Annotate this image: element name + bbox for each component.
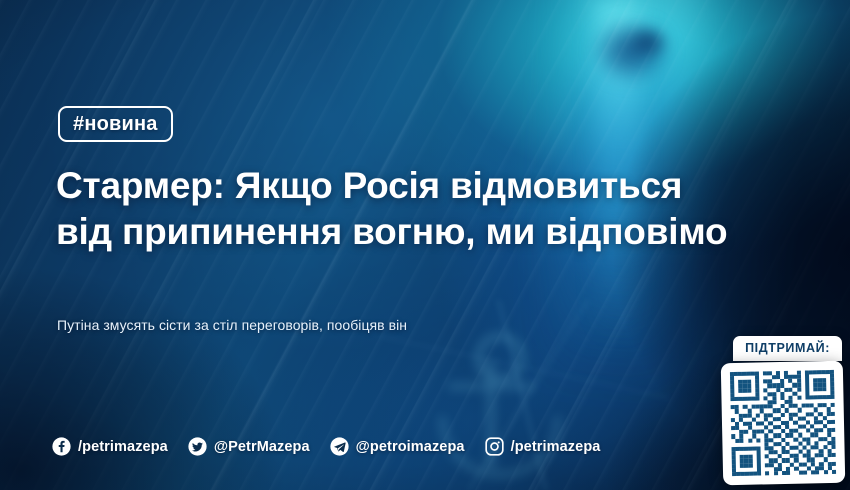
headline-line-2: від припинення вогню, ми відповімо (56, 209, 696, 255)
qr-code (730, 370, 836, 476)
twitter-icon (188, 437, 207, 456)
news-card: #новина Стармер: Якщо Росія відмовиться … (0, 0, 850, 490)
category-tag-label: #новина (73, 114, 158, 134)
social-link-telegram[interactable]: @petroimazepa (330, 437, 465, 456)
headline-line-1: Стармер: Якщо Росія відмовиться (56, 163, 696, 209)
facebook-handle: /petrimazepa (78, 439, 168, 455)
telegram-icon (330, 437, 349, 456)
category-tag-badge[interactable]: #новина (58, 106, 173, 142)
subtitle: Путіна змусять сісти за стіл переговорів… (57, 317, 407, 333)
twitter-handle: @PetrMazepa (214, 439, 310, 455)
social-links-row: /petrimazepa @PetrMazepa @petroimazepa (52, 437, 600, 456)
social-link-instagram[interactable]: /petrimazepa (485, 437, 601, 456)
instagram-icon (485, 437, 504, 456)
instagram-handle: /petrimazepa (511, 439, 601, 455)
support-label: ПІДТРИМАЙ: (733, 336, 842, 361)
support-qr-card[interactable] (721, 361, 846, 486)
facebook-icon (52, 437, 71, 456)
social-link-twitter[interactable]: @PetrMazepa (188, 437, 310, 456)
social-link-facebook[interactable]: /petrimazepa (52, 437, 168, 456)
headline: Стармер: Якщо Росія відмовиться від прип… (56, 163, 696, 255)
telegram-handle: @petroimazepa (356, 439, 465, 455)
